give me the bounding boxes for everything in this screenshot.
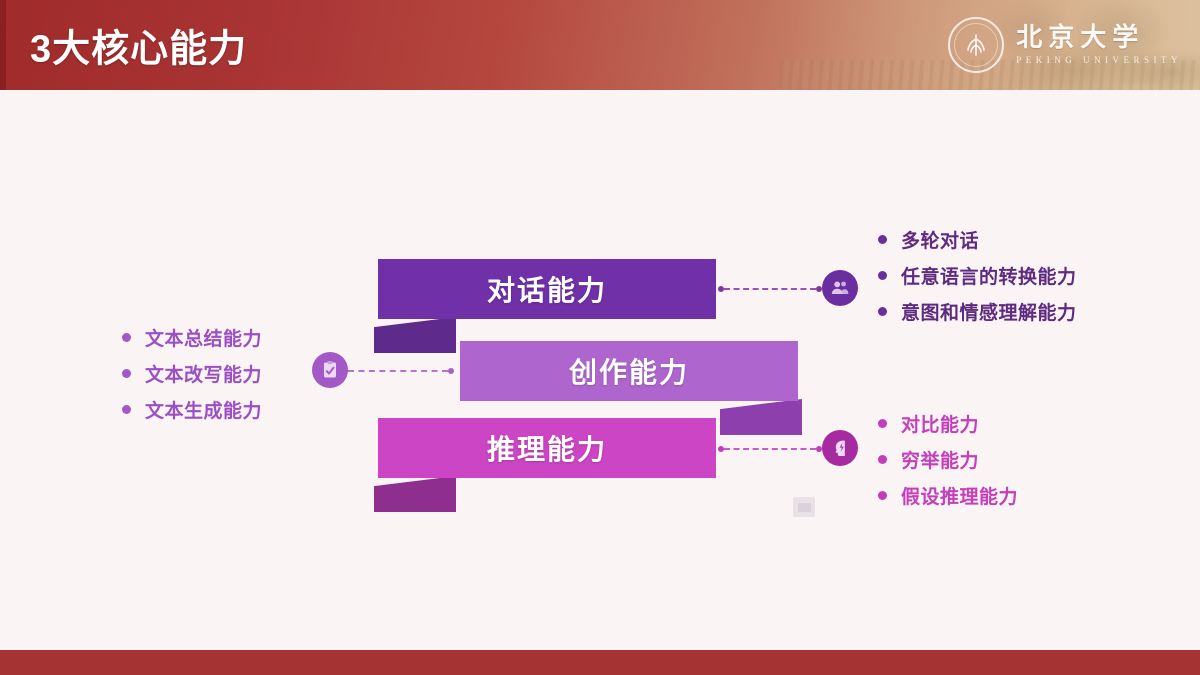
slide-canvas: 3大核心能力 北京大学 PEKING UNIVERSITY (0, 0, 1200, 675)
banner-reasoning[interactable]: 推理能力 (378, 418, 716, 478)
connector-reasoning (718, 448, 822, 450)
logo-text-block: 北京大学 PEKING UNIVERSITY (1016, 25, 1182, 65)
list-item: 对比能力 (878, 410, 1018, 437)
bullet-dot (878, 491, 887, 500)
list-item-label: 多轮对话 (901, 226, 979, 253)
image-placeholder-icon (793, 497, 815, 517)
connector-line (348, 370, 448, 372)
list-item-label: 意图和情感理解能力 (901, 298, 1077, 325)
bullet-dot (122, 369, 131, 378)
bullet-dot (122, 405, 131, 414)
list-item-label: 穷举能力 (901, 446, 979, 473)
banner-label: 对话能力 (487, 269, 607, 309)
list-item: 意图和情感理解能力 (878, 298, 1077, 325)
banner-label: 创作能力 (569, 351, 689, 391)
bullet-dot (878, 235, 887, 244)
peking-university-seal-icon (948, 17, 1004, 73)
list-item: 文本改写能力 (122, 360, 262, 387)
bullet-list-reasoning: 对比能力 穷举能力 假设推理能力 (878, 410, 1018, 509)
connector-dialogue (718, 288, 822, 290)
connector-dot (448, 368, 454, 374)
banner-fold-tail (720, 399, 802, 435)
bullet-list-dialogue: 多轮对话 任意语言的转换能力 意图和情感理解能力 (878, 226, 1077, 325)
list-item: 多轮对话 (878, 226, 1077, 253)
connector-creation (342, 370, 454, 372)
list-item-label: 任意语言的转换能力 (901, 262, 1077, 289)
connector-line (724, 288, 816, 290)
bullet-dot (878, 271, 887, 280)
bullet-dot (878, 455, 887, 464)
logo-name-cn: 北京大学 (1016, 25, 1144, 51)
university-logo: 北京大学 PEKING UNIVERSITY (948, 17, 1182, 73)
list-item: 任意语言的转换能力 (878, 262, 1077, 289)
banner-fold-tail (374, 476, 456, 512)
bullet-dot (878, 307, 887, 316)
banner-dialogue[interactable]: 对话能力 (378, 259, 716, 319)
list-item-label: 文本改写能力 (145, 360, 262, 387)
header-left-accent-bar (0, 0, 6, 90)
connector-line (724, 448, 816, 450)
slide-footer (0, 650, 1200, 675)
banner-fold-tail (374, 317, 456, 353)
banner-bar: 对话能力 (378, 259, 716, 319)
banner-bar: 创作能力 (460, 341, 798, 401)
banner-bar: 推理能力 (378, 418, 716, 478)
list-item-label: 对比能力 (901, 410, 979, 437)
slide-header: 3大核心能力 北京大学 PEKING UNIVERSITY (0, 0, 1200, 90)
head-idea-icon[interactable] (822, 430, 858, 466)
list-item-label: 文本生成能力 (145, 396, 262, 423)
users-icon[interactable] (822, 270, 858, 306)
list-item: 文本总结能力 (122, 324, 262, 351)
list-item: 文本生成能力 (122, 396, 262, 423)
list-item-label: 文本总结能力 (145, 324, 262, 351)
bullet-dot (878, 419, 887, 428)
banner-creation[interactable]: 创作能力 (460, 341, 798, 401)
banner-label: 推理能力 (487, 428, 607, 468)
list-item: 穷举能力 (878, 446, 1018, 473)
logo-name-en: PEKING UNIVERSITY (1016, 56, 1182, 65)
bullet-list-creation: 文本总结能力 文本改写能力 文本生成能力 (122, 324, 262, 423)
document-check-icon[interactable] (312, 352, 348, 388)
image-placeholder-inner (798, 503, 811, 512)
list-item: 假设推理能力 (878, 482, 1018, 509)
page-title: 3大核心能力 (30, 18, 247, 73)
list-item-label: 假设推理能力 (901, 482, 1018, 509)
bullet-dot (122, 333, 131, 342)
